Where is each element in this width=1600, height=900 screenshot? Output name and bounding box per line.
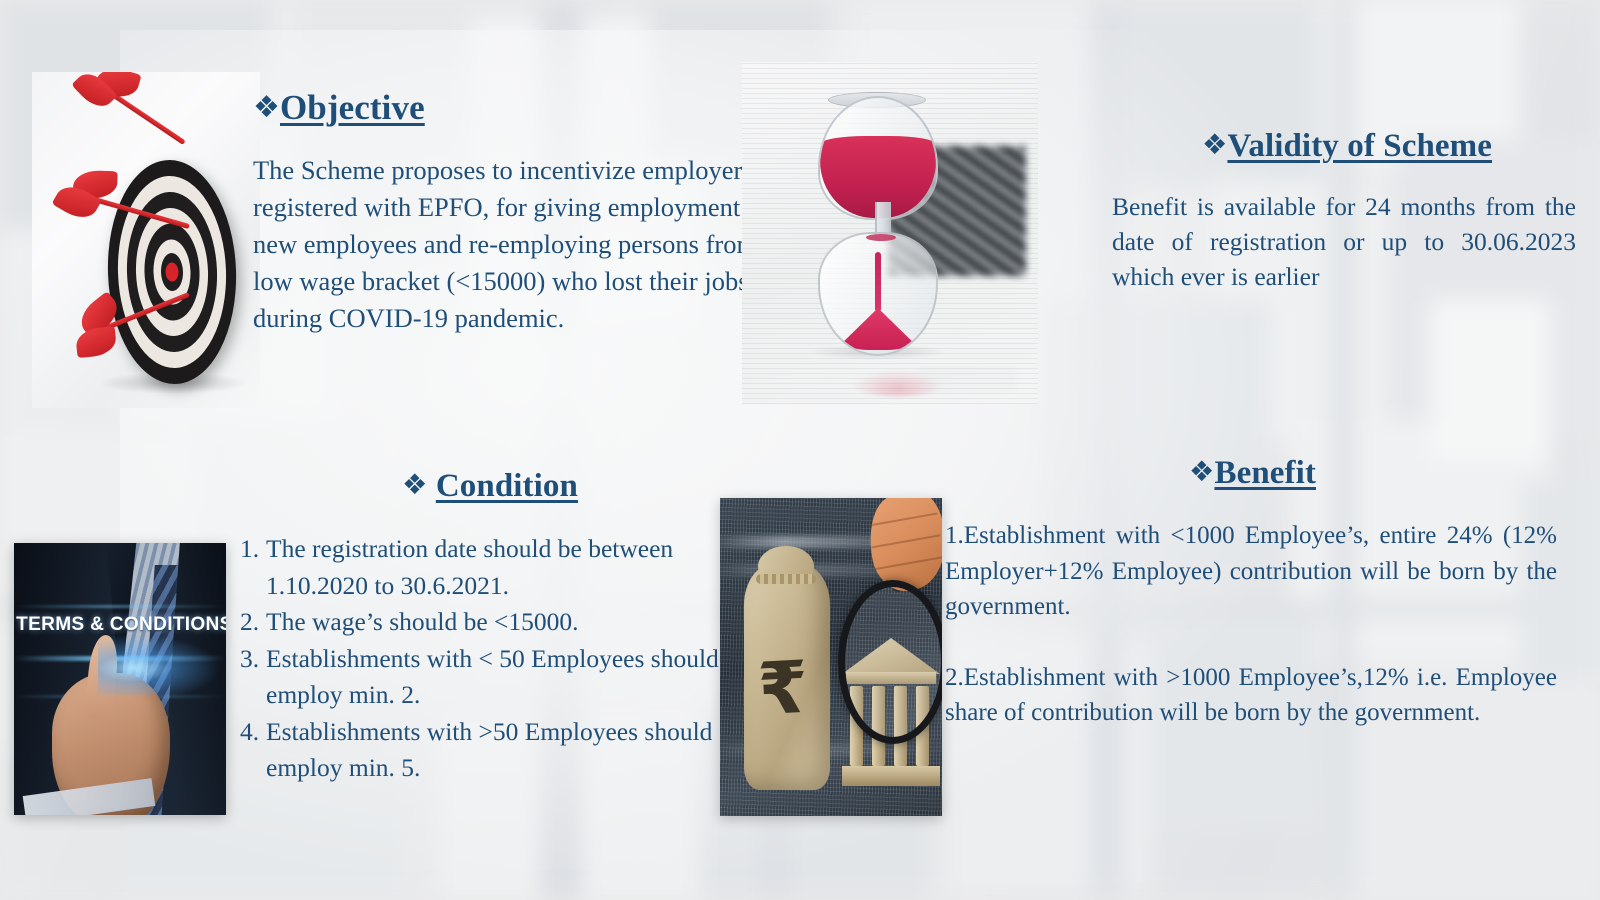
list-item: 1. The registration date should be betwe…	[240, 531, 730, 604]
diamond-bullet-icon: ❖	[1189, 455, 1214, 488]
objective-heading-text: Objective	[280, 88, 425, 127]
objective-body-text: The Scheme proposes to incentivize emplo…	[253, 152, 768, 337]
list-item-text: Establishments with < 50 Employees shoul…	[266, 641, 730, 714]
validity-section: ❖Validity of Scheme Benefit is available…	[1112, 128, 1582, 294]
benefit-heading: ❖Benefit	[1189, 455, 1316, 492]
validity-heading: ❖Validity of Scheme	[1202, 128, 1492, 165]
list-item-number: 3.	[240, 641, 266, 678]
diamond-bullet-icon: ❖	[253, 90, 280, 125]
benefit-paragraph-2: 2.Establishment with >1000 Employee’s,12…	[945, 660, 1557, 731]
condition-list: 1. The registration date should be betwe…	[240, 531, 730, 787]
benefit-section: ❖Benefit 1.Establishment with <1000 Empl…	[945, 455, 1560, 731]
list-item-number: 2.	[240, 604, 266, 641]
magnifying-glass-icon	[838, 580, 942, 744]
validity-body-text: Benefit is available for 24 months from …	[1112, 189, 1576, 294]
list-item-text: Establishments with >50 Employees should…	[266, 714, 730, 787]
benefit-body: 1.Establishment with <1000 Employee’s, e…	[945, 518, 1560, 731]
list-item-text: The wage’s should be <15000.	[266, 604, 730, 641]
benefit-paragraph-1: 1.Establishment with <1000 Employee’s, e…	[945, 518, 1557, 625]
condition-section: ❖ Condition 1. The registration date sho…	[240, 468, 740, 787]
slide-canvas: ❖Objective The Scheme proposes to incent…	[0, 0, 1600, 900]
list-item: 2. The wage’s should be <15000.	[240, 604, 730, 641]
diamond-bullet-icon: ❖	[402, 468, 427, 501]
condition-heading: ❖ Condition	[402, 468, 578, 505]
list-item-number: 4.	[240, 714, 266, 751]
benefit-heading-text: Benefit	[1214, 455, 1316, 491]
list-item-number: 1.	[240, 531, 266, 568]
diamond-bullet-icon: ❖	[1202, 128, 1227, 161]
money-bag-bank-image: ₹	[720, 498, 942, 816]
objective-heading: ❖Objective	[253, 88, 425, 128]
objective-section: ❖Objective The Scheme proposes to incent…	[253, 88, 773, 337]
hourglass-reflection	[760, 345, 1026, 400]
condition-heading-text: Condition	[436, 468, 578, 504]
list-item-text: The registration date should be between …	[266, 531, 730, 604]
rupee-symbol-icon: ₹	[756, 651, 810, 726]
validity-heading-text: Validity of Scheme	[1227, 128, 1492, 164]
list-item: 4. Establishments with >50 Employees sho…	[240, 714, 730, 787]
dartboard-with-darts-image	[32, 72, 260, 408]
list-item: 3. Establishments with < 50 Employees sh…	[240, 641, 730, 714]
terms-and-conditions-image: TERMS & CONDITIONS	[14, 543, 226, 815]
terms-and-conditions-caption: TERMS & CONDITIONS	[16, 613, 224, 636]
